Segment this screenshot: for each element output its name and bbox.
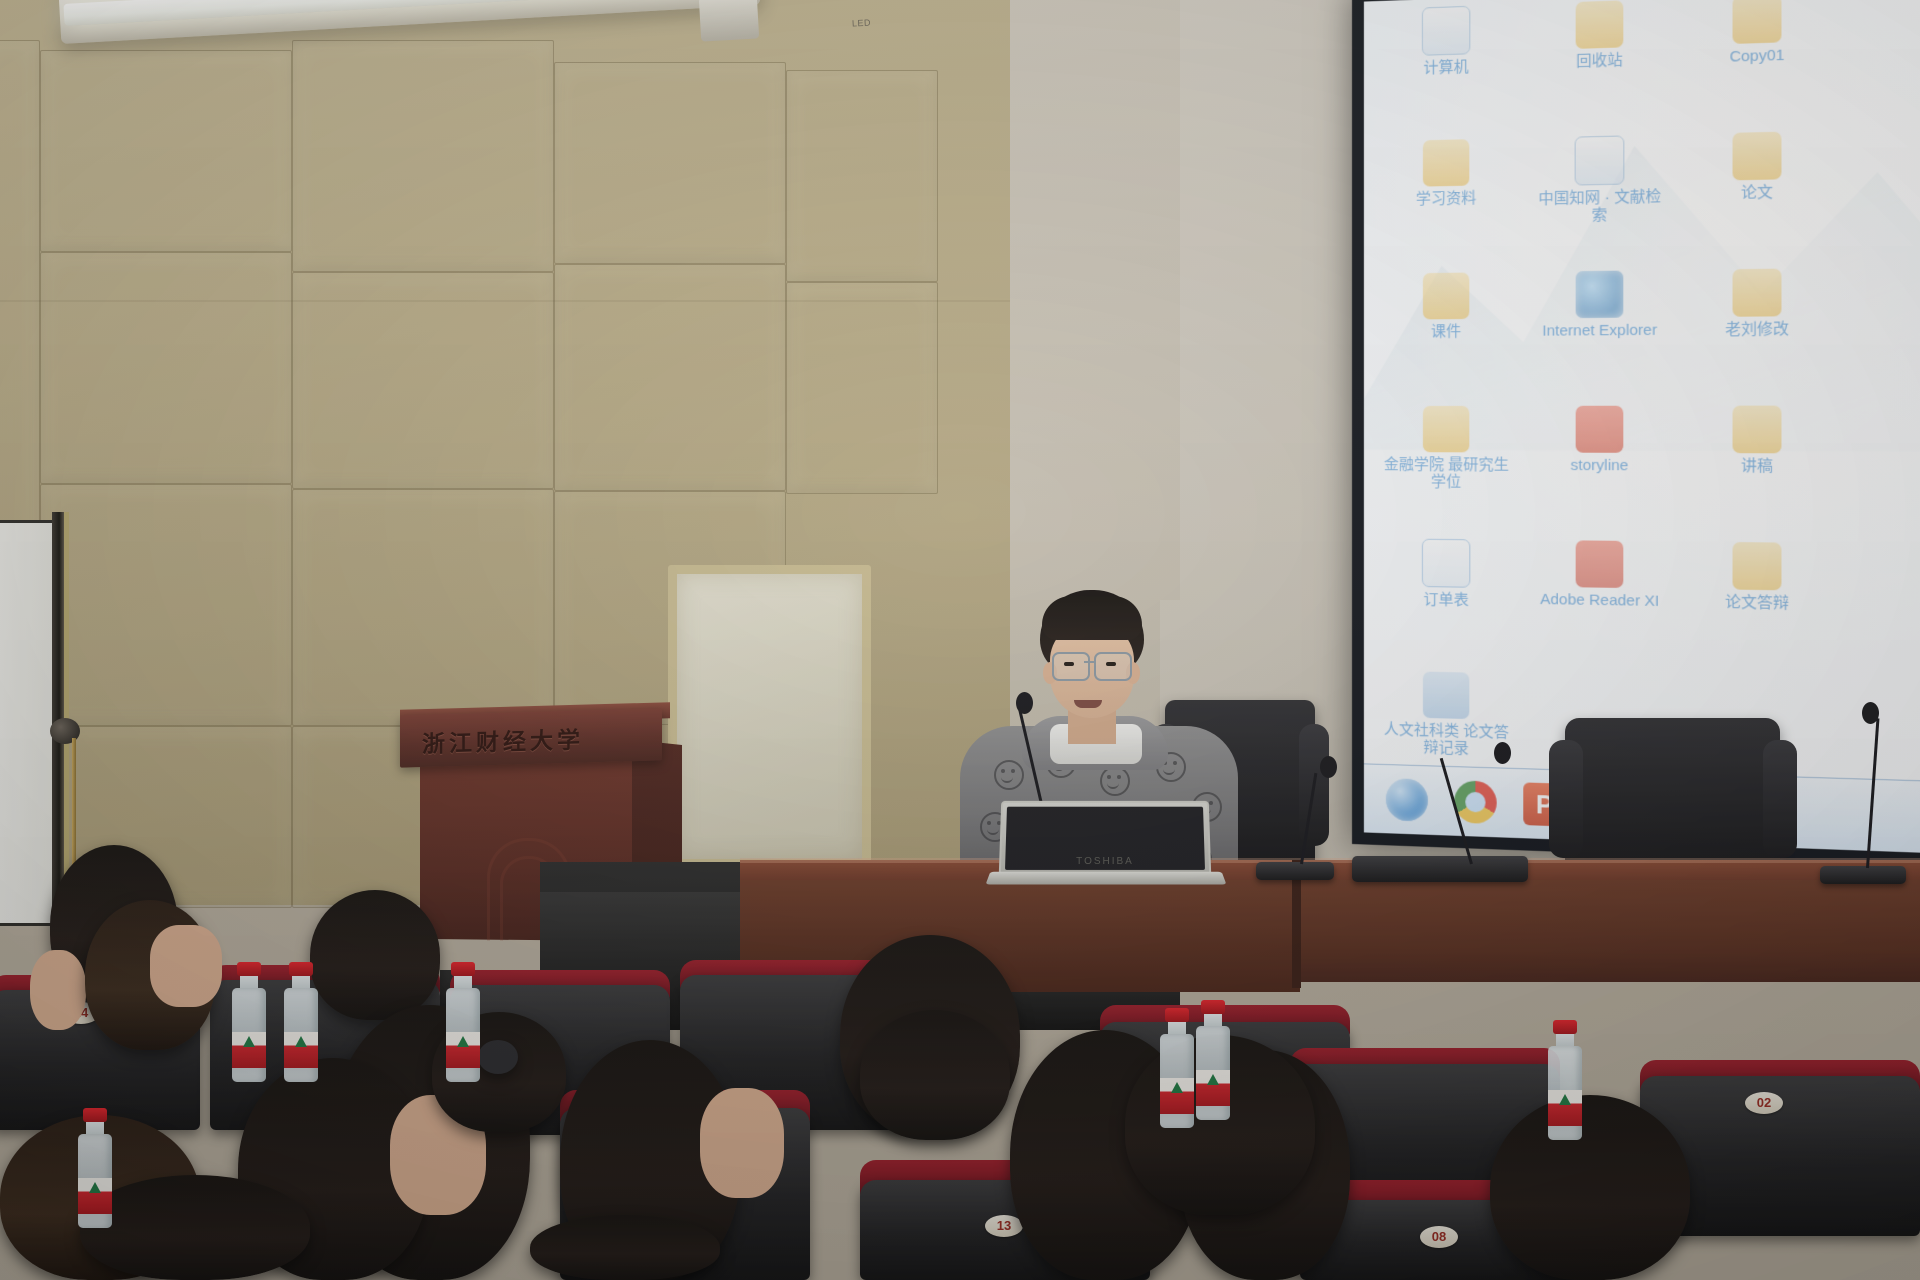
laptop-brand-label: TOSHIBA <box>1050 856 1160 867</box>
executive-chair-right[interactable] <box>1565 718 1780 878</box>
desktop-icon-label: storyline <box>1571 457 1629 475</box>
desktop-icon-label: 论文答辩 <box>1725 594 1789 613</box>
folder-icon <box>1733 406 1782 454</box>
desktop-icon-label: 金融学院 最研究生学位 <box>1384 456 1509 490</box>
seat-number-badge: 08 <box>1420 1226 1458 1248</box>
desktop-icon-label: 订单表 <box>1423 591 1468 609</box>
lecture-hall-photo: LED 浙江财经大学 计算机回收站Copy01学习资料中国知网 · 文献检索论文… <box>0 0 1920 1280</box>
wall-access-panel <box>668 565 871 868</box>
desktop-icon-label: Copy01 <box>1729 46 1784 65</box>
desktop-icon[interactable]: 人文社科类 论文答辩记录 <box>1382 671 1511 760</box>
light-brand-label: LED <box>852 18 872 29</box>
water-bottle[interactable] <box>78 1108 112 1228</box>
folder-icon <box>1423 139 1469 186</box>
presenter-mouth <box>1074 700 1102 708</box>
door-frame <box>52 512 64 922</box>
desk-mic-head-left[interactable] <box>1320 756 1337 778</box>
presenter-fringe <box>1042 596 1142 640</box>
desktop-icon[interactable]: 订单表 <box>1382 538 1511 610</box>
folder-icon <box>1733 132 1782 181</box>
desk-mic-head-right[interactable] <box>1862 702 1879 724</box>
audience-head <box>530 1215 720 1280</box>
desktop-icon[interactable]: 金融学院 最研究生学位 <box>1382 406 1511 492</box>
doc-icon <box>1422 6 1470 56</box>
eyeglasses-right-lens <box>1094 652 1132 681</box>
laptop-keyboard-base[interactable] <box>986 872 1227 885</box>
water-bottle[interactable] <box>1548 1020 1582 1140</box>
desktop-icon[interactable]: 计算机 <box>1382 4 1511 79</box>
folder-icon <box>1423 273 1469 320</box>
desktop-icon[interactable]: 学习资料 <box>1382 138 1511 209</box>
water-bottle[interactable] <box>1196 1000 1230 1120</box>
desktop-icon[interactable]: 论文 <box>1689 131 1825 204</box>
desktop-icon-label: 论文 <box>1741 184 1773 202</box>
desktop-icon[interactable]: 回收站 <box>1534 0 1667 72</box>
presenter-eye-left <box>1064 662 1074 666</box>
water-bottle[interactable] <box>1160 1008 1194 1128</box>
desktop-icon[interactable]: 老刘修改 <box>1689 268 1825 340</box>
folder-icon <box>1576 0 1624 49</box>
eyeglasses-left-lens <box>1052 652 1090 681</box>
desktop-icon[interactable]: Internet Explorer <box>1534 270 1667 341</box>
podium-university-name: 浙江财经大学 <box>422 719 648 759</box>
ie-icon <box>1576 271 1624 319</box>
flash-icon <box>1576 406 1624 453</box>
eyeglasses-icon <box>478 1040 518 1074</box>
desktop-icon[interactable]: Adobe Reader XI <box>1534 540 1667 611</box>
door-edge-trim <box>64 512 69 922</box>
desktop-icon-label: 课件 <box>1431 323 1461 340</box>
pdf-icon <box>1576 540 1624 588</box>
folder-icon <box>1733 269 1782 317</box>
water-bottle[interactable] <box>232 962 266 1082</box>
folder-icon <box>1423 406 1469 452</box>
note-icon <box>1422 539 1470 588</box>
presenter-eye-right <box>1106 662 1116 666</box>
seat-number-badge: 13 <box>985 1215 1023 1237</box>
doc-icon <box>1575 135 1625 185</box>
desktop-icon[interactable]: storyline <box>1534 406 1667 476</box>
light-end-cap <box>699 0 759 42</box>
water-bottle[interactable] <box>284 962 318 1082</box>
eyeglasses-bridge <box>1084 661 1096 663</box>
audience-face <box>700 1088 784 1198</box>
stage-table-right-body <box>1296 880 1920 982</box>
folder-icon <box>1733 0 1782 44</box>
water-bottle[interactable] <box>446 962 480 1082</box>
desktop-icon-label: 老刘修改 <box>1725 320 1789 338</box>
desktop-icon-label: 讲稿 <box>1741 457 1773 475</box>
audience-head <box>310 890 440 1020</box>
conference-mic-unit[interactable] <box>1352 856 1528 882</box>
text-icon <box>1423 672 1469 720</box>
desk-mic-base-right[interactable] <box>1820 866 1906 884</box>
desktop-icon[interactable]: 中国知网 · 文献检索 <box>1534 134 1667 225</box>
desktop-icon[interactable]: 课件 <box>1382 272 1511 342</box>
folder-icon <box>1733 542 1782 590</box>
audience-head <box>860 1010 1010 1140</box>
internet-explorer-icon[interactable] <box>1386 778 1428 822</box>
desktop-icon[interactable]: 论文答辩 <box>1689 542 1825 614</box>
conference-mic-head[interactable] <box>1494 742 1511 764</box>
audience-head <box>80 1175 310 1280</box>
desktop-icon-label: 回收站 <box>1576 52 1623 71</box>
audience-head <box>1490 1095 1690 1280</box>
desktop-icon-label: 中国知网 · 文献检索 <box>1538 188 1661 224</box>
presenter-mic-head[interactable] <box>1016 692 1033 714</box>
desktop-icon-label: 学习资料 <box>1416 190 1477 208</box>
audience-shoulder <box>30 950 86 1030</box>
desktop-icon-label: Adobe Reader XI <box>1540 591 1659 610</box>
desktop-icon-label: 计算机 <box>1423 58 1468 77</box>
browser-icon[interactable] <box>1454 780 1497 824</box>
desk-mic-base-left[interactable] <box>1256 862 1334 880</box>
desktop-icon[interactable]: Copy01 <box>1689 0 1825 68</box>
seat-number-badge: 02 <box>1745 1092 1783 1114</box>
desktop-icon-label: 人文社科类 论文答辩记录 <box>1384 721 1509 757</box>
desktop-icon[interactable]: 讲稿 <box>1689 406 1825 477</box>
desktop-icon-label: Internet Explorer <box>1542 322 1657 340</box>
audience-face <box>150 925 222 1007</box>
